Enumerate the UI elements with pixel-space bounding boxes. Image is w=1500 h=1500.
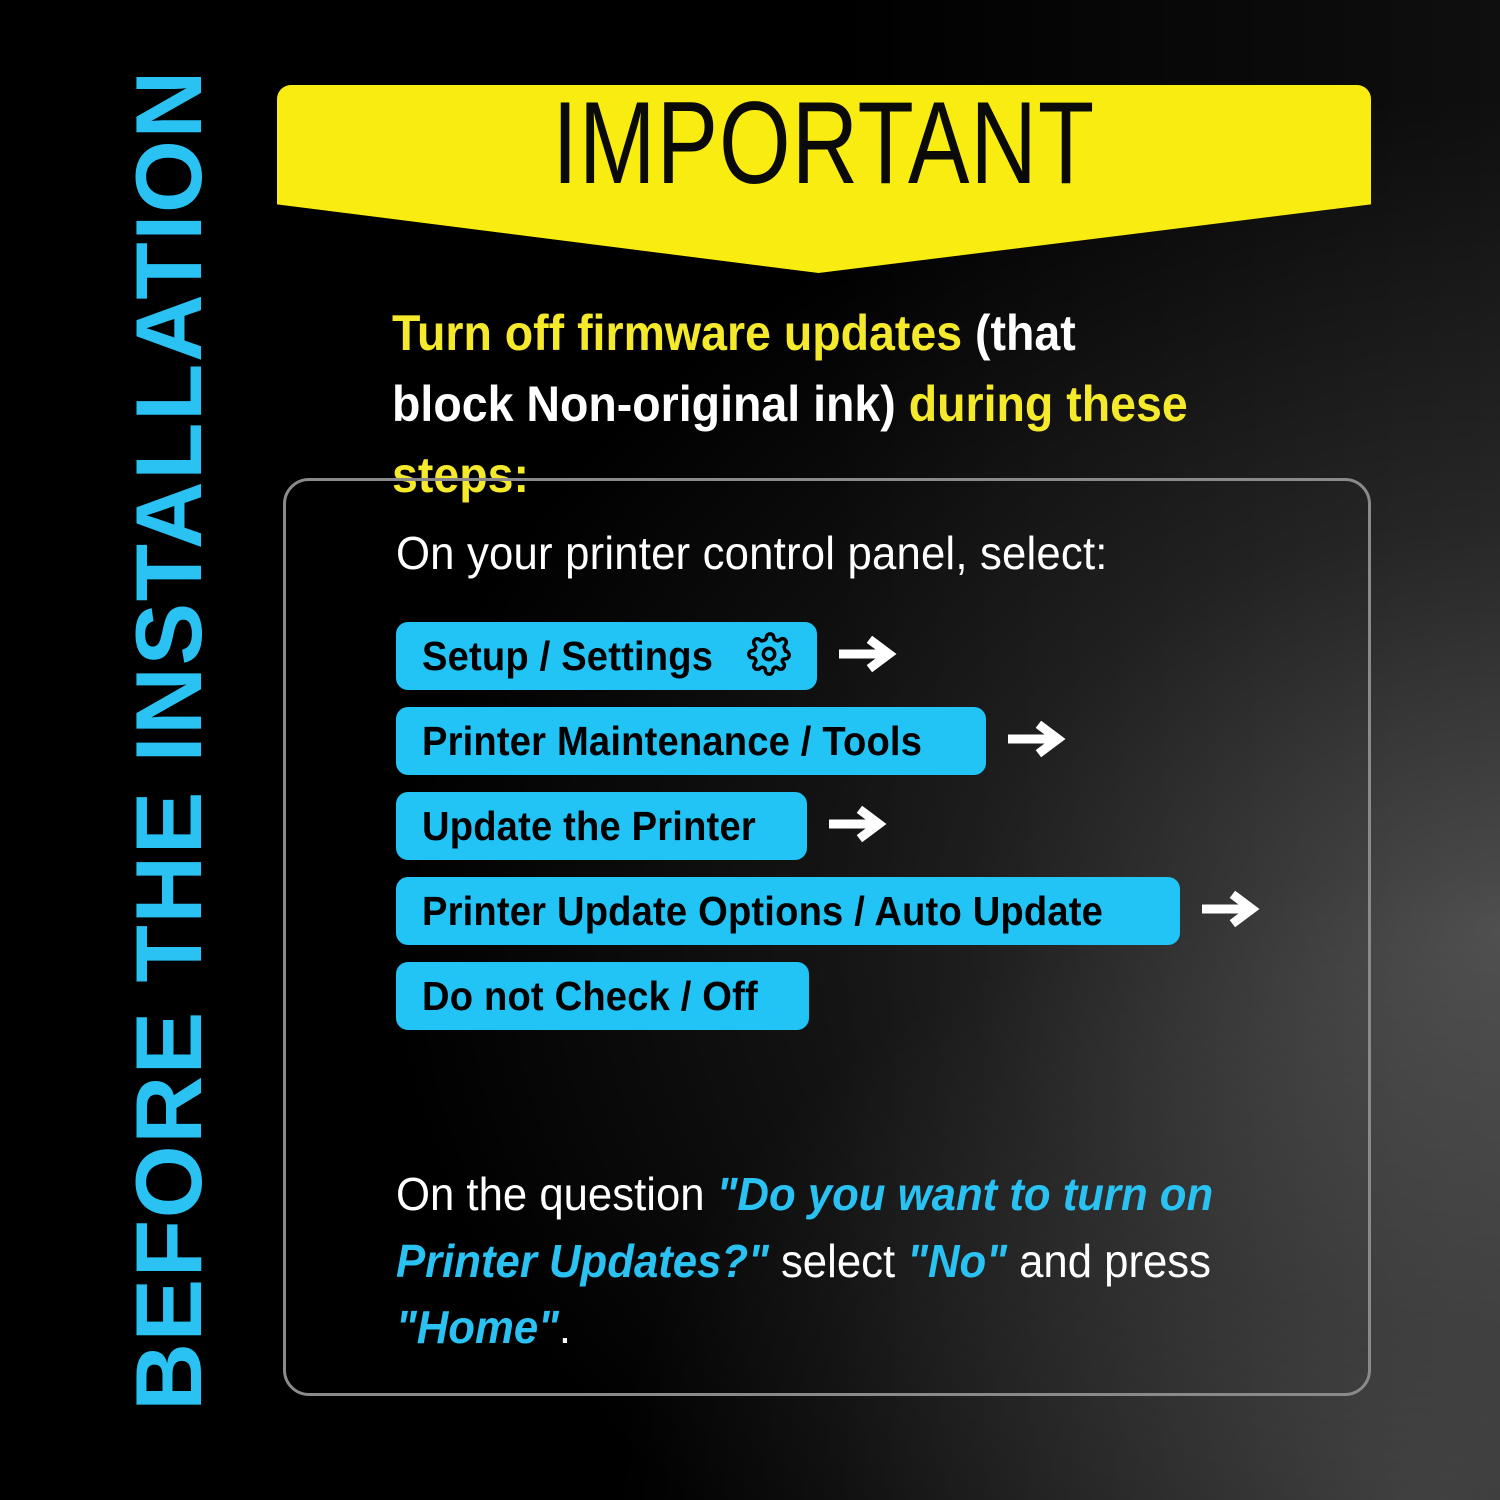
closing-quote-no: "No": [907, 1235, 1007, 1287]
step-chip-printer-update-options-auto-update[interactable]: Printer Update Options / Auto Update: [396, 877, 1180, 945]
step-label: Printer Update Options / Auto Update: [422, 891, 1103, 932]
important-banner: IMPORTANT: [277, 85, 1371, 273]
instruction-card: BEFORE THE INSTALLATION IMPORTANT Turn o…: [0, 0, 1500, 1500]
step-label: Do not Check / Off: [422, 976, 758, 1017]
arrow-right-icon: [839, 635, 901, 678]
closing-text-4: .: [559, 1301, 571, 1353]
step-label: Printer Maintenance / Tools: [422, 721, 922, 762]
step-chip-printer-maintenance-tools[interactable]: Printer Maintenance / Tools: [396, 707, 986, 775]
important-banner-title: IMPORTANT: [553, 77, 1096, 211]
arrow-right-icon: [829, 805, 891, 848]
closing-text-2: select: [769, 1235, 907, 1287]
panel-lead-text: On your printer control panel, select:: [396, 526, 1108, 580]
side-title-container: BEFORE THE INSTALLATION: [104, 60, 234, 1420]
closing-quote-home: "Home": [396, 1301, 559, 1353]
step-row: Do not Check / Off: [396, 961, 1326, 1031]
step-row: Update the Printer: [396, 791, 1326, 861]
steps-panel: On your printer control panel, select: S…: [283, 478, 1371, 1396]
steps-list: Setup / Settings Pr: [396, 621, 1326, 1046]
headline-part-1: Turn off firmware updates: [392, 305, 975, 361]
closing-text-3: and press: [1007, 1235, 1211, 1287]
closing-paragraph: On the question "Do you want to turn on …: [396, 1161, 1280, 1361]
side-title: BEFORE THE INSTALLATION: [122, 69, 216, 1411]
closing-text-1: On the question: [396, 1168, 717, 1220]
arrow-right-icon: [1008, 720, 1070, 763]
important-banner-inner: IMPORTANT: [277, 85, 1371, 203]
step-label: Setup / Settings: [422, 636, 713, 677]
step-chip-setup-settings[interactable]: Setup / Settings: [396, 622, 817, 690]
step-label: Update the Printer: [422, 806, 756, 847]
step-chip-do-not-check-off[interactable]: Do not Check / Off: [396, 962, 809, 1030]
step-chip-update-the-printer[interactable]: Update the Printer: [396, 792, 807, 860]
arrow-right-icon: [1202, 890, 1264, 933]
step-row: Printer Update Options / Auto Update: [396, 876, 1326, 946]
step-row: Printer Maintenance / Tools: [396, 706, 1326, 776]
gear-icon: [747, 632, 791, 681]
step-row: Setup / Settings: [396, 621, 1326, 691]
